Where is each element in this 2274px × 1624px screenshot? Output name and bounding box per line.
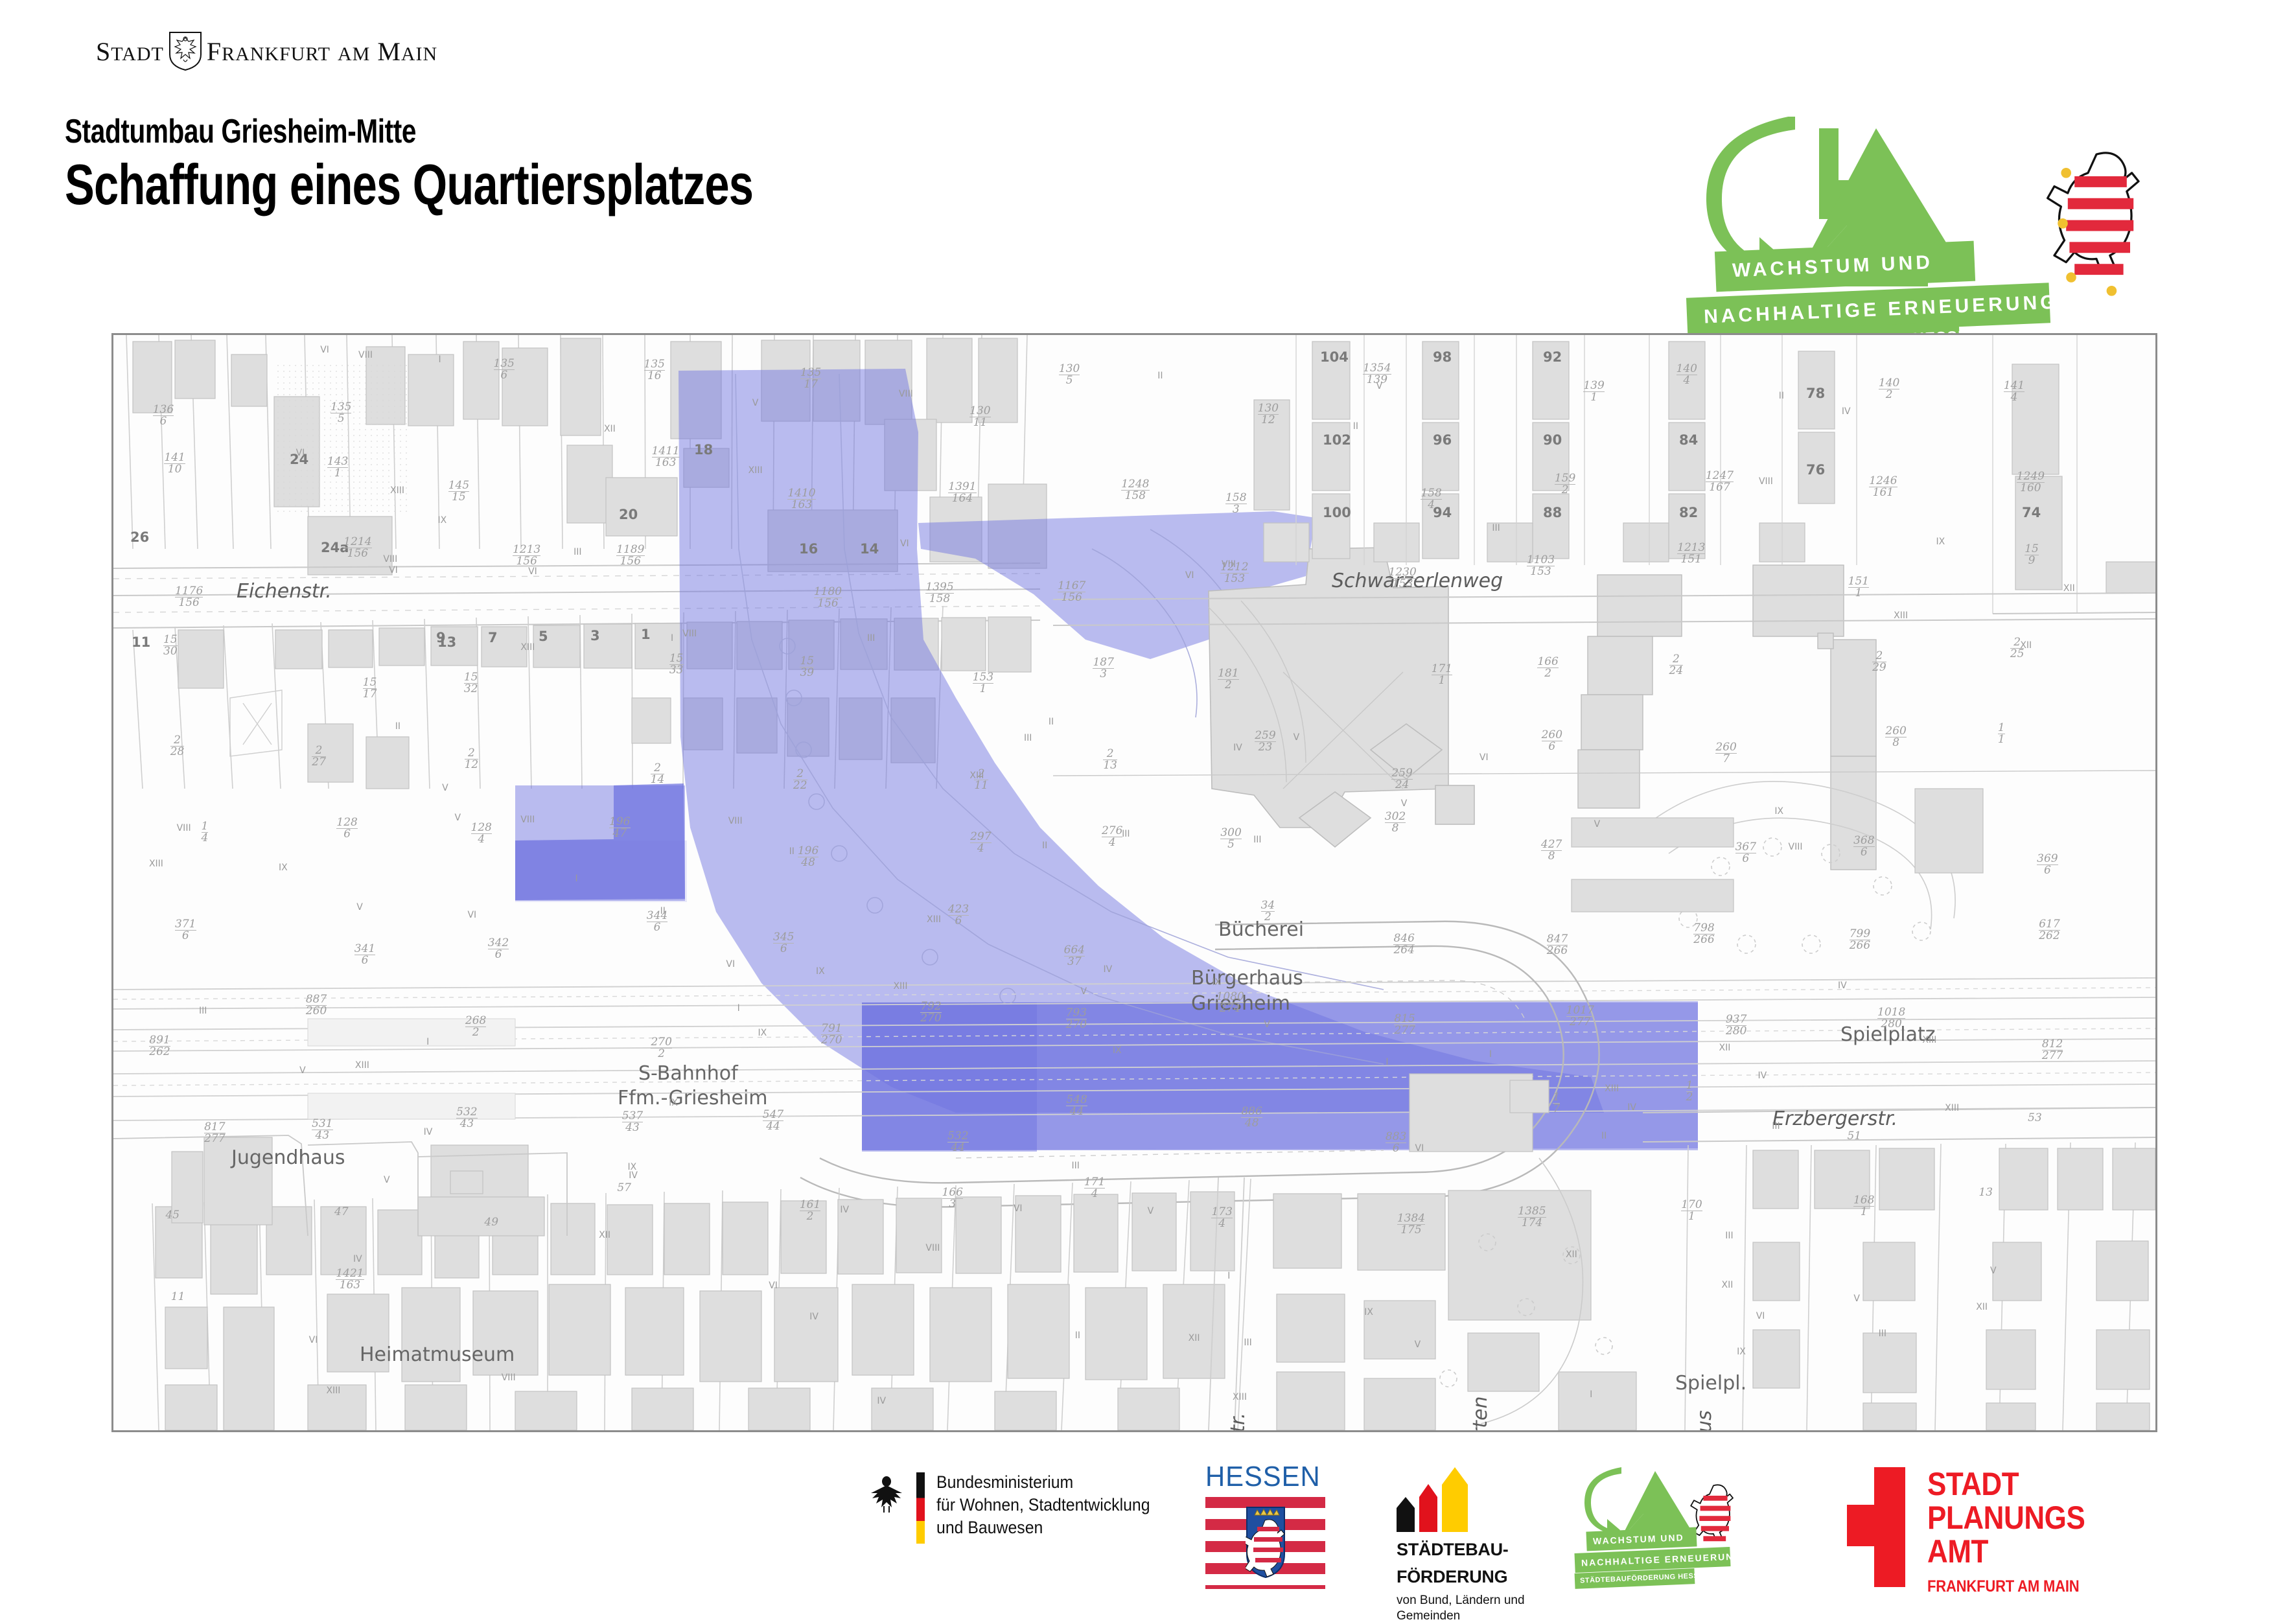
building-floor-level: VIII: [383, 554, 397, 564]
building-floor-level: II: [1353, 421, 1358, 432]
parcel-number: 12: [1686, 1080, 1693, 1103]
building-floor-level: XII: [1719, 1043, 1731, 1053]
parcel-number: 227: [312, 745, 326, 768]
building-floor-level: V: [1853, 1293, 1860, 1304]
building-floor-level: III: [1253, 835, 1261, 845]
building-floor-level: IV: [1104, 964, 1113, 975]
building-floor-level: III: [1492, 523, 1500, 533]
parcel-number: 1431: [327, 456, 348, 479]
frankfurt-eagle-crest-icon: [168, 31, 203, 71]
building-floor-level: V: [1294, 732, 1300, 743]
building-floor-level: XIII: [927, 914, 941, 925]
parcel-number: 1284: [471, 822, 492, 845]
parcel-number: 214: [651, 763, 665, 785]
building-floor-level: VIII: [1222, 559, 1236, 570]
building-floor-level: I: [737, 1003, 740, 1014]
bmwsb-text: Bundesministerium für Wohnen, Stadtentwi…: [936, 1471, 1150, 1539]
building-floor-level: III: [1024, 733, 1032, 743]
bmwsb-line-2: für Wohnen, Stadtentwicklung: [936, 1494, 1150, 1516]
parcel-number: 1734: [1211, 1207, 1232, 1229]
parcel-number: 1402: [1879, 378, 1899, 400]
parcel-number: 1080274: [1216, 992, 1244, 1014]
parcel-number: 1584: [1421, 488, 1441, 511]
building-floor-level: V: [752, 398, 759, 408]
parcel-number: 19648: [798, 846, 818, 868]
building-floor-level: V: [1376, 381, 1383, 391]
parcel-number: 1812: [1218, 668, 1238, 691]
house-number: 11: [132, 634, 150, 650]
house-number: 76: [1806, 462, 1825, 478]
building-floor-level: V: [1401, 798, 1408, 809]
parcel-number: 799266: [1850, 929, 1870, 951]
parcel-number: 1711: [1432, 664, 1452, 686]
building-floor-level: II: [789, 846, 795, 857]
project-subtitle: Stadtumbau Griesheim-Mitte: [65, 114, 753, 150]
parcel-number: 3416: [354, 944, 375, 966]
building-floor-level: V: [1148, 1206, 1154, 1216]
building-floor-level: VI: [1185, 570, 1194, 581]
building-floor-level: I: [671, 633, 673, 644]
building-floor-level: VI: [900, 539, 909, 549]
parcel-number: 228: [170, 735, 185, 758]
building-floor-level: III: [574, 547, 581, 557]
building-floor-level: XIII: [355, 1060, 369, 1071]
parcel-number: 3005: [1220, 828, 1241, 850]
parcel-number: 1103153: [1527, 555, 1555, 577]
parcel-number: 1404: [1676, 364, 1697, 386]
page-title: Schaffung eines Quartiersplatzes: [65, 155, 753, 215]
parcel-number: 1517: [363, 677, 377, 700]
street-label-eichenstr: Eichenstr.: [237, 580, 332, 603]
parcel-number: 3686: [1853, 835, 1874, 858]
cadastral-map[interactable]: Eichenstr. Schwarzerlenweg Erzbergerstr.…: [111, 333, 2157, 1432]
parcel-number: 159: [2025, 544, 2039, 566]
building-floor-level: IX: [1737, 1347, 1746, 1357]
parcel-number: 817277: [204, 1122, 225, 1144]
house-number: 100: [1323, 505, 1351, 520]
building-floor-level: IV: [1842, 406, 1851, 417]
parcel-number: 1246161: [1869, 476, 1897, 498]
parcel-number: 1356: [494, 358, 515, 381]
house-number: 90: [1543, 432, 1562, 448]
parcel-number: 2607: [1715, 742, 1736, 765]
poi-buergerhaus: Bürgerhaus: [1191, 967, 1303, 990]
building-floor-level: IX: [1212, 977, 1221, 988]
parcel-number: 2608: [1885, 726, 1906, 748]
bundesministerium-logo: Bundesministerium für Wohnen, Stadtentwi…: [868, 1471, 1168, 1544]
parcel-number: 13: [1978, 1187, 1993, 1198]
building-floor-level: XIII: [390, 485, 404, 496]
parcel-number: 3716: [175, 919, 196, 942]
parcel-number: 13516: [644, 359, 665, 382]
parcel-number: 887260: [306, 994, 327, 1017]
building-floor-level: IX: [669, 1098, 678, 1108]
stadtplanungsamt-line-2: PLANUNGS: [1927, 1501, 2085, 1535]
bmwsb-line-1: Bundesministerium: [936, 1471, 1150, 1494]
building-floor-level: XII: [1976, 1302, 1988, 1312]
staedtebau-line-2: FÖRDERUNG: [1397, 1567, 1525, 1586]
parcel-number: 1384175: [1397, 1213, 1425, 1236]
house-number: 26: [130, 529, 149, 545]
parcel-number: 1681: [1853, 1195, 1874, 1218]
building-floor-level: VI: [1415, 1143, 1424, 1154]
stadtplanungsamt-logo: STADT PLANUNGS AMT FRANKFURT AM MAIN: [1827, 1467, 2107, 1596]
staedtebaufoerderung-logo: STÄDTEBAU- FÖRDERUNG von Bund, Ländern u…: [1397, 1467, 1525, 1624]
building-floor-level: VI: [467, 910, 476, 920]
parcel-number: 1421163: [336, 1268, 364, 1291]
building-floor-level: III: [199, 1006, 207, 1016]
parcel-number: 1391: [1583, 380, 1604, 403]
building-floor-level: IV: [840, 1205, 849, 1215]
building-floor-level: II: [660, 906, 666, 916]
house-number: 18: [694, 442, 713, 458]
building-floor-level: XII: [2020, 640, 2032, 651]
building-floor-level: VIII: [925, 1243, 940, 1253]
building-floor-level: I: [575, 874, 578, 884]
parcel-number: 1248158: [1121, 479, 1149, 502]
parcel-number: 14515: [448, 480, 469, 503]
parcel-number: 3696: [2037, 853, 2058, 876]
parcel-number: 2764: [1102, 826, 1122, 848]
building-floor-level: VI: [1756, 1311, 1765, 1321]
parcel-number: 1414: [2004, 380, 2025, 403]
parcel-number: 1214156: [343, 537, 371, 559]
building-floor-level: XII: [1722, 1280, 1734, 1290]
building-floor-level: VI: [296, 448, 305, 458]
parcel-number: 17: [1553, 1092, 1560, 1115]
parcel-number: 1411163: [652, 446, 680, 469]
parcel-number: 791270: [821, 1023, 842, 1046]
parcel-number: 1247167: [1706, 470, 1734, 493]
building-floor-level: VIII: [682, 629, 697, 639]
parcel-number: 1539: [800, 656, 814, 679]
parcel-number: 13012: [1258, 403, 1279, 426]
street-label-obere-ruetzelstr: Obere Rützelstr.: [1227, 1413, 1249, 1432]
building-floor-level: V: [1990, 1266, 1997, 1276]
house-number: 3: [590, 628, 600, 644]
building-floor-level: IX: [279, 863, 288, 873]
street-label-schwarzerlenweg: Schwarzerlenweg: [1332, 570, 1503, 592]
parcel-number: 53: [2028, 1113, 2042, 1124]
building-floor-level: VIII: [1759, 476, 1773, 487]
parcel-number: 1533: [669, 653, 684, 676]
parcel-number: 2606: [1542, 730, 1562, 752]
parcel-number: 1395158: [925, 582, 953, 605]
parcel-number: 1017277: [1566, 1005, 1594, 1028]
building-floor-level: VIII: [899, 389, 913, 399]
house-number: 14: [860, 541, 879, 557]
building-floor-level: I: [1386, 1057, 1388, 1067]
parcel-number: 53243: [456, 1107, 477, 1130]
building-floor-level: III: [1879, 1328, 1886, 1339]
building-floor-level: IV: [877, 1396, 886, 1406]
house-number: 102: [1323, 432, 1351, 448]
parcel-number: 1213156: [513, 544, 540, 567]
building-floor-level: II: [1049, 717, 1054, 727]
building-floor-level: IX: [816, 966, 825, 977]
building-floor-level: XIII: [1894, 610, 1908, 621]
building-floor-level: III: [1772, 1121, 1780, 1131]
building-floor-level: VI: [1479, 752, 1489, 763]
building-floor-level: V: [356, 902, 363, 912]
building-floor-level: XIII: [893, 981, 907, 992]
parcel-number: 1305: [1059, 364, 1080, 386]
building-floor-level: VI: [528, 566, 537, 577]
building-floor-level: XIII: [520, 642, 535, 653]
parcel-number: 88648: [1241, 1106, 1262, 1129]
parcel-number: 1355: [331, 402, 351, 424]
parcel-number: 1385174: [1518, 1206, 1546, 1229]
bundesadler-icon: [868, 1474, 905, 1515]
building-floor-level: II: [1601, 1131, 1607, 1141]
building-floor-level: VIII: [728, 816, 743, 826]
house-number: 88: [1543, 505, 1562, 520]
building-floor-level: V: [384, 1175, 390, 1185]
parcel-number: 222: [793, 769, 807, 791]
parcel-number: 342: [1261, 900, 1275, 923]
parcel-number: 11: [1998, 723, 2005, 745]
parcel-number: 19647: [609, 817, 630, 839]
house-black-icon: [1397, 1497, 1415, 1532]
street-label-erzbergerstr: Erzbergerstr.: [1772, 1108, 1897, 1130]
parcel-number: 1663: [942, 1187, 963, 1210]
wachstum-logo-small: WACHSTUM UND NACHHALTIGE ERNEUERUNG STÄD…: [1575, 1466, 1769, 1595]
parcel-number: 2682: [465, 1015, 486, 1038]
house-number: 20: [619, 507, 638, 522]
building-floor-level: XIII: [326, 1386, 340, 1396]
house-number: 92: [1543, 349, 1562, 365]
parcel-number: 815277: [1394, 1014, 1415, 1036]
parcel-number: 54844: [1066, 1095, 1087, 1117]
parcel-number: 1366: [153, 404, 174, 427]
building-floor-level: V: [299, 1065, 306, 1076]
parcel-number: 224: [1669, 654, 1684, 677]
german-flag-bar: [916, 1472, 925, 1544]
parcel-number: 1532: [464, 672, 478, 695]
parcel-number: 1873: [1093, 657, 1113, 680]
building-floor-level: XIII: [1922, 1035, 1936, 1045]
building-floor-level: XIII: [1945, 1103, 1959, 1113]
parcel-number: 212: [465, 748, 479, 771]
parcel-number: 1213151: [1677, 542, 1705, 565]
parcel-number: 793270: [1066, 1008, 1087, 1030]
parcel-number: 891262: [149, 1035, 170, 1058]
building-floor-level: IX: [437, 515, 447, 526]
building-floor-level: IX: [1774, 806, 1783, 817]
poi-jugendhaus: Jugendhaus: [231, 1146, 345, 1169]
house-number: 96: [1433, 432, 1452, 448]
building-floor-level: IV: [809, 1312, 818, 1322]
building-floor-level: VI: [726, 959, 735, 969]
building-floor-level: III: [1072, 1161, 1080, 1171]
staedtebau-sub-2: Gemeinden: [1397, 1608, 1525, 1624]
parcel-number: 1583: [1225, 493, 1246, 515]
house-number: 82: [1679, 505, 1698, 520]
parcel-number: 2702: [651, 1037, 671, 1060]
parcel-number: 1410163: [787, 488, 815, 511]
building-floor-level: IV: [1838, 980, 1847, 991]
building-floor-level: I: [1590, 1389, 1592, 1400]
parcel-number: 2974: [970, 831, 991, 854]
street-label-am-brennhaus: Am Brennhaus: [1693, 1410, 1716, 1432]
parcel-number: 1592: [1555, 473, 1575, 496]
building-floor-level: III: [1122, 829, 1130, 839]
building-floor-level: II: [1042, 841, 1047, 851]
building-floor-level: V: [1080, 986, 1087, 997]
house-number: 78: [1806, 386, 1825, 401]
hessen-wordmark: HESSEN: [1205, 1461, 1323, 1493]
staedtebau-line-1: STÄDTEBAU-: [1397, 1540, 1525, 1559]
building-floor-level: I: [1227, 1271, 1230, 1281]
parcel-number: 1230153: [1389, 567, 1417, 590]
building-floor-level: V: [1415, 1340, 1421, 1350]
stadtplanungsamt-text: STADT PLANUNGS AMT FRANKFURT AM MAIN: [1927, 1467, 2107, 1596]
parcel-number: 3456: [773, 932, 794, 955]
building-floor-level: III: [867, 633, 875, 644]
building-floor-level: XII: [599, 1230, 610, 1240]
building-floor-level: VIII: [1789, 842, 1803, 852]
parcel-number: 1530: [163, 634, 178, 657]
building-floor-level: IX: [1113, 1045, 1122, 1056]
parcel-number: 1391164: [948, 481, 976, 504]
building-floor-level: I: [1489, 1049, 1492, 1060]
hessen-shield-icon: [1246, 1506, 1286, 1579]
building-floor-level: XIII: [1605, 1084, 1619, 1094]
building-floor-level: III: [1244, 1338, 1251, 1348]
building-floor-level: V: [442, 783, 448, 793]
parcel-number: 1511: [1848, 576, 1869, 599]
parcel-number: 4236: [948, 904, 969, 927]
building-floor-level: XII: [604, 424, 616, 434]
parcel-number: 847266: [1547, 934, 1568, 957]
staedtebau-sub-1: von Bund, Ländern und: [1397, 1593, 1525, 1608]
poi-spielpl: Spielpl.: [1675, 1372, 1746, 1395]
footer-logo-bar: Bundesministerium für Wohnen, Stadtentwi…: [0, 1458, 2274, 1607]
poi-ffm-griesheim: Ffm.-Griesheim: [618, 1087, 768, 1109]
city-logo-text-left: STADT: [96, 36, 164, 67]
parcel-number: 846264: [1393, 933, 1414, 956]
parcel-number: 229: [1872, 651, 1886, 673]
house-red-icon: [1419, 1484, 1437, 1532]
house-number: 98: [1433, 349, 1452, 365]
building-floor-level: VIII: [520, 815, 535, 825]
parcel-number: 1180156: [814, 586, 842, 609]
parcel-number: 49: [484, 1217, 498, 1228]
parcel-number: 1612: [800, 1200, 820, 1222]
stadtplanungsamt-line-3: AMT: [1927, 1535, 2085, 1568]
parcel-number: 937280: [1726, 1014, 1746, 1037]
parcel-number: 1167156: [1058, 581, 1085, 603]
hessen-flag: [1205, 1497, 1325, 1589]
house-number: 84: [1679, 432, 1698, 448]
building-floor-level: II: [1157, 371, 1163, 381]
parcel-number: 8836: [1386, 1131, 1406, 1154]
parcel-number: 25924: [1391, 768, 1412, 791]
parcel-number: 792270: [920, 1001, 941, 1024]
parcel-number: 54744: [763, 1109, 783, 1132]
parcel-number: 812277: [2042, 1039, 2063, 1061]
building-floor-level: II: [395, 721, 400, 732]
bmwsb-line-3: und Bauwesen: [936, 1516, 1150, 1539]
building-floor-level: VI: [1014, 1203, 1023, 1214]
title-block: Stadtumbau Griesheim-Mitte Schaffung ein…: [65, 114, 947, 215]
building-floor-level: I: [426, 1037, 429, 1047]
parcel-number: 14: [202, 821, 209, 844]
parcel-number: 4278: [1541, 839, 1562, 862]
building-floor-level: XIII: [149, 859, 163, 869]
parcel-number: 53244: [947, 1131, 968, 1154]
parcel-number: 3028: [1385, 811, 1406, 834]
building-floor-level: V: [1264, 1019, 1270, 1030]
building-floor-level: V: [454, 813, 461, 823]
building-floor-level: IV: [424, 1127, 433, 1137]
parcel-number: 45: [165, 1210, 180, 1221]
parcel-number: 53143: [312, 1119, 332, 1141]
parcel-number: 13011: [969, 406, 990, 428]
building-floor-level: XIII: [748, 465, 763, 476]
parcel-number: 47: [334, 1207, 349, 1218]
hessen-logo: HESSEN: [1205, 1461, 1328, 1589]
building-floor-level: XII: [1566, 1249, 1577, 1260]
parcel-number: 25923: [1255, 730, 1275, 753]
parcel-number: 3676: [1735, 842, 1756, 864]
parcel-number: 51: [1847, 1131, 1861, 1142]
parcel-number: 1714: [1084, 1177, 1105, 1200]
parcel-number: 798266: [1693, 923, 1714, 945]
poi-heimatmuseum: Heimatmuseum: [360, 1343, 515, 1366]
stadtplanungsamt-mark-icon: [1827, 1467, 1905, 1587]
parcel-number: 11: [171, 1292, 185, 1303]
parcel-number: 1249160: [2017, 471, 2045, 494]
building-floor-level: IV: [1627, 1102, 1636, 1113]
parcel-number: 1701: [1681, 1200, 1702, 1222]
house-number: 1: [641, 627, 651, 642]
parcel-number: 14110: [164, 452, 185, 475]
house-number: 16: [799, 541, 818, 557]
three-houses-icon: [1397, 1467, 1525, 1532]
parcel-number: 3426: [488, 938, 509, 960]
building-floor-level: VI: [769, 1281, 778, 1291]
house-number: 104: [1320, 349, 1349, 365]
street-label-am-gemeindegarten-2: Am Gemeindegarten: [1469, 1396, 1492, 1432]
hessen-lion-icon: [2045, 143, 2148, 311]
parcel-number: 66437: [1064, 945, 1085, 968]
house-number: 5: [539, 629, 548, 644]
stadtplanungsamt-subline: FRANKFURT AM MAIN: [1927, 1577, 2085, 1596]
building-floor-level: IV: [353, 1254, 362, 1264]
building-floor-level: VIII: [177, 823, 191, 833]
poi-s-bahnhof: S-Bahnhof: [638, 1062, 738, 1085]
parcel-number: 1018280: [1877, 1007, 1905, 1030]
city-logo: STADT FRANKFURT AM MAIN: [96, 31, 437, 71]
parcel-number: 1286: [336, 817, 357, 840]
parcel-number: 1189156: [616, 544, 644, 567]
stadtplanungsamt-line-1: STADT: [1927, 1467, 2085, 1501]
building-floor-level: XII: [2063, 583, 2075, 594]
parcel-number: 53743: [622, 1111, 643, 1133]
house-number: 74: [2022, 505, 2041, 520]
building-floor-level: V: [1594, 819, 1601, 829]
building-floor-level: IX: [1364, 1307, 1373, 1317]
parcel-number: 617262: [2039, 919, 2059, 942]
parcel-number: 1531: [973, 672, 993, 695]
building-floor-level: III: [1725, 1231, 1733, 1241]
building-floor-level: II: [1075, 1330, 1080, 1341]
parcel-number: 57: [617, 1183, 631, 1194]
building-floor-level: VI: [320, 345, 329, 355]
house-yellow-icon: [1442, 1467, 1468, 1532]
parcel-number: 1176156: [175, 586, 203, 609]
